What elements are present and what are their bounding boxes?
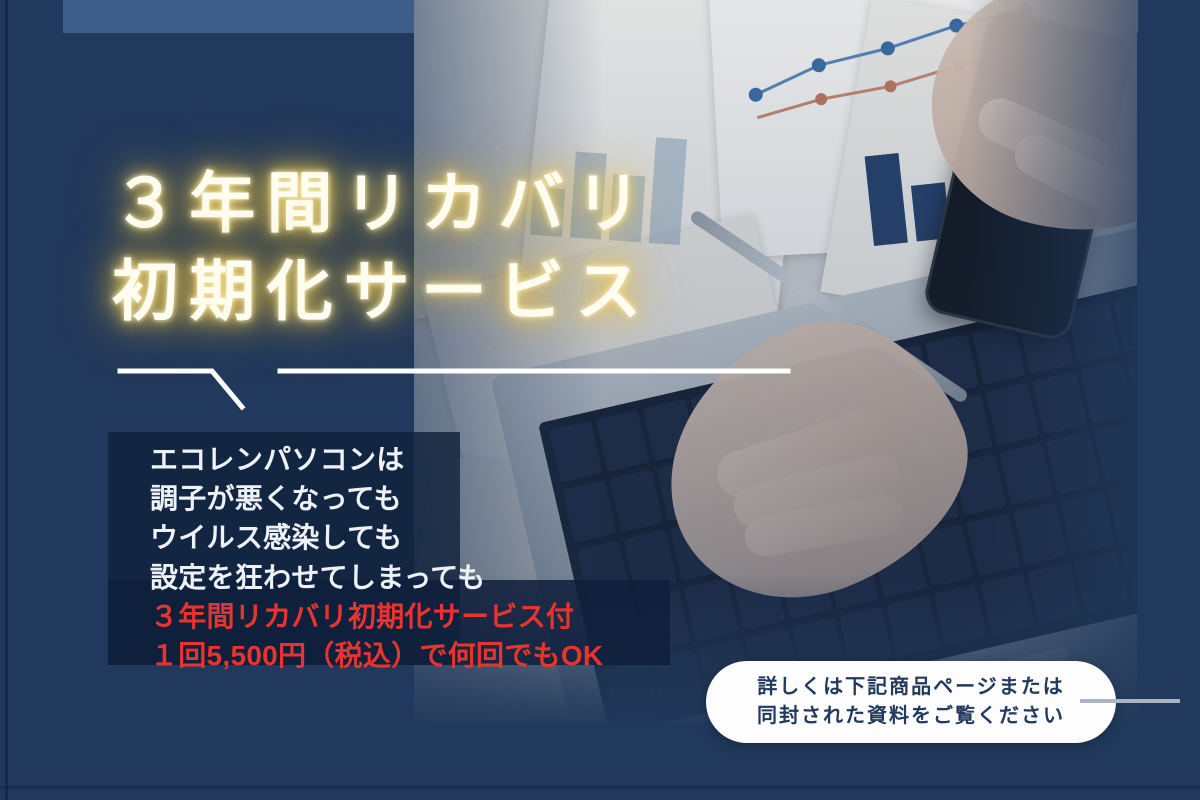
info-callout-line-2: 同封された資料をご覧ください bbox=[757, 702, 1065, 731]
decorative-bracket-line bbox=[112, 355, 792, 415]
info-callout-line-1: 詳しくは下記商品ページまたは bbox=[757, 673, 1065, 702]
frame-accent-line-bottom bbox=[0, 786, 1200, 789]
headline-line-2: 初期化サービス bbox=[112, 248, 872, 336]
info-callout-text: 詳しくは下記商品ページまたは 同封された資料をご覧ください bbox=[757, 673, 1065, 731]
description-line-3: ウイルス感染しても bbox=[150, 518, 690, 557]
description-line-4: 設定を狂わせてしまっても bbox=[150, 558, 690, 597]
description-line-2: 調子が悪くなっても bbox=[150, 479, 690, 518]
description-line-1: エコレンパソコンは bbox=[150, 440, 690, 479]
headline-line-1: ３年間リカバリ bbox=[112, 166, 653, 240]
promo-banner: ３年間リカバリ 初期化サービス エコレンパソコンは 調子が悪くなっても ウイルス… bbox=[0, 0, 1200, 800]
highlight-line-2: １回5,500円（税込）で何回でもOK bbox=[150, 636, 690, 675]
highlight-line-1: ３年間リカバリ初期化サービス付 bbox=[150, 597, 690, 636]
headline: ３年間リカバリ 初期化サービス bbox=[112, 160, 872, 336]
frame-accent-line-left bbox=[5, 0, 8, 800]
callout-connector-line bbox=[1080, 699, 1180, 703]
info-callout-pill: 詳しくは下記商品ページまたは 同封された資料をご覧ください bbox=[706, 661, 1116, 743]
description-text: エコレンパソコンは 調子が悪くなっても ウイルス感染しても 設定を狂わせてしまっ… bbox=[150, 440, 690, 675]
